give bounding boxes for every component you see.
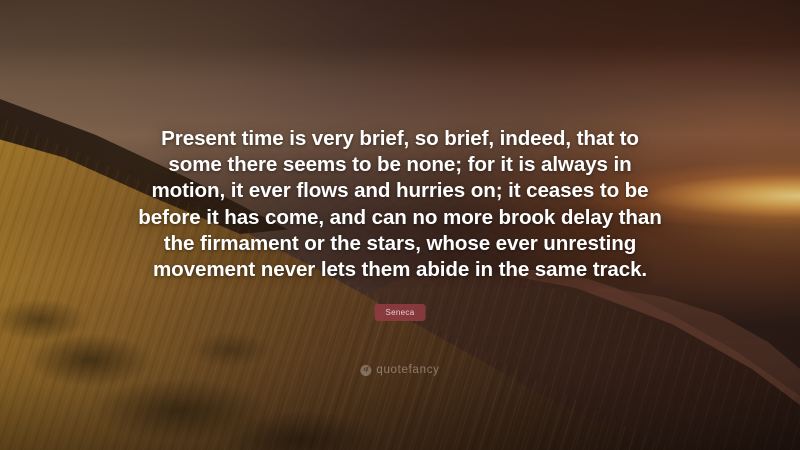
quotefancy-logo-icon: qf xyxy=(360,365,371,376)
author-badge[interactable]: Seneca xyxy=(375,304,426,321)
quote-image-canvas: Present time is very brief, so brief, in… xyxy=(0,0,800,450)
quote-text: Present time is very brief, so brief, in… xyxy=(136,126,664,283)
overlay-content: Present time is very brief, so brief, in… xyxy=(0,0,800,450)
quotefancy-wordmark: quotefancy xyxy=(376,364,439,376)
quotefancy-watermark[interactable]: qf quotefancy xyxy=(360,364,439,376)
quotefancy-logo-mark: qf xyxy=(364,367,369,373)
